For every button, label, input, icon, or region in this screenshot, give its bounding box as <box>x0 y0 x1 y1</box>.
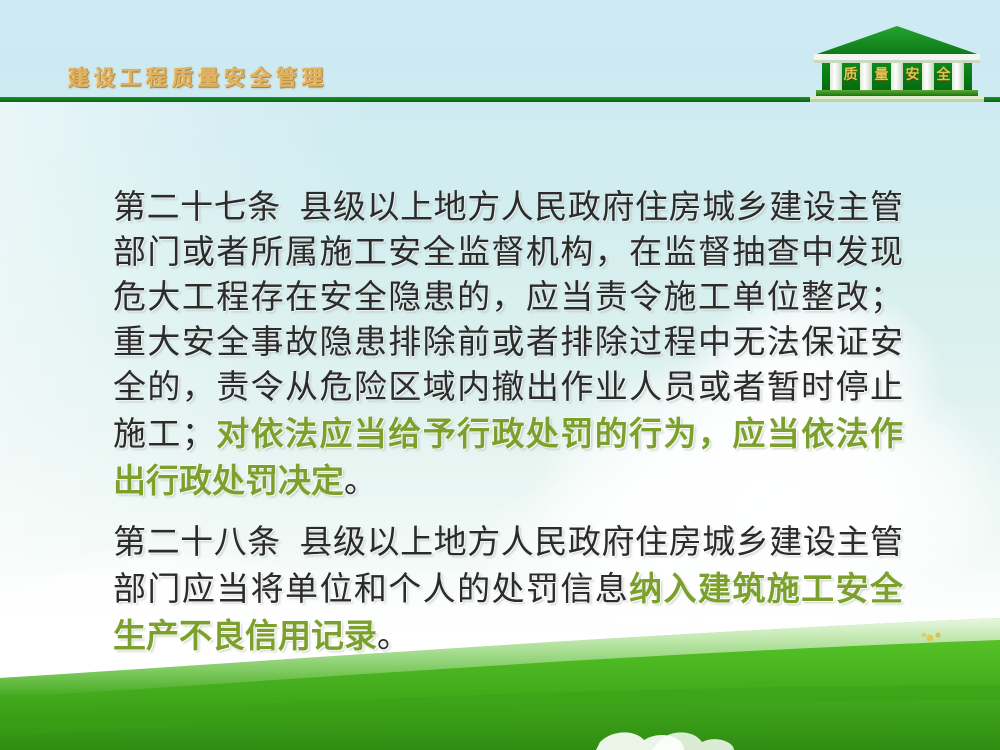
text-run: 。 <box>344 464 377 500</box>
page-title: 建设工程质量安全管理 <box>68 62 328 92</box>
text-run: 第二十七条 <box>113 190 281 226</box>
text-run: 第二十八条 <box>113 525 281 561</box>
text-run: 。 <box>377 619 410 655</box>
text-run: 县级以上地方人民政府住房城乡建设主管部门或者所属施工安全监督机构，在监督抽查中发… <box>113 190 903 453</box>
slide-root: 建设工程质量安全管理 <box>0 0 1000 750</box>
paragraph-article-28: 第二十八条县级以上地方人民政府住房城乡建设主管部门应当将单位和个人的处罚信息纳入… <box>113 521 903 660</box>
highlighted-text-run: 对依法应当给予行政处罚的行为，应当依法作出行政处罚决定 <box>113 415 903 499</box>
paragraph-article-27: 第二十七条县级以上地方人民政府住房城乡建设主管部门或者所属施工安全监督机构，在监… <box>113 186 903 505</box>
quality-safety-temple-logo: 质量安全 <box>806 24 988 102</box>
slide-body: 第二十七条县级以上地方人民政府住房城乡建设主管部门或者所属施工安全监督机构，在监… <box>113 186 903 660</box>
